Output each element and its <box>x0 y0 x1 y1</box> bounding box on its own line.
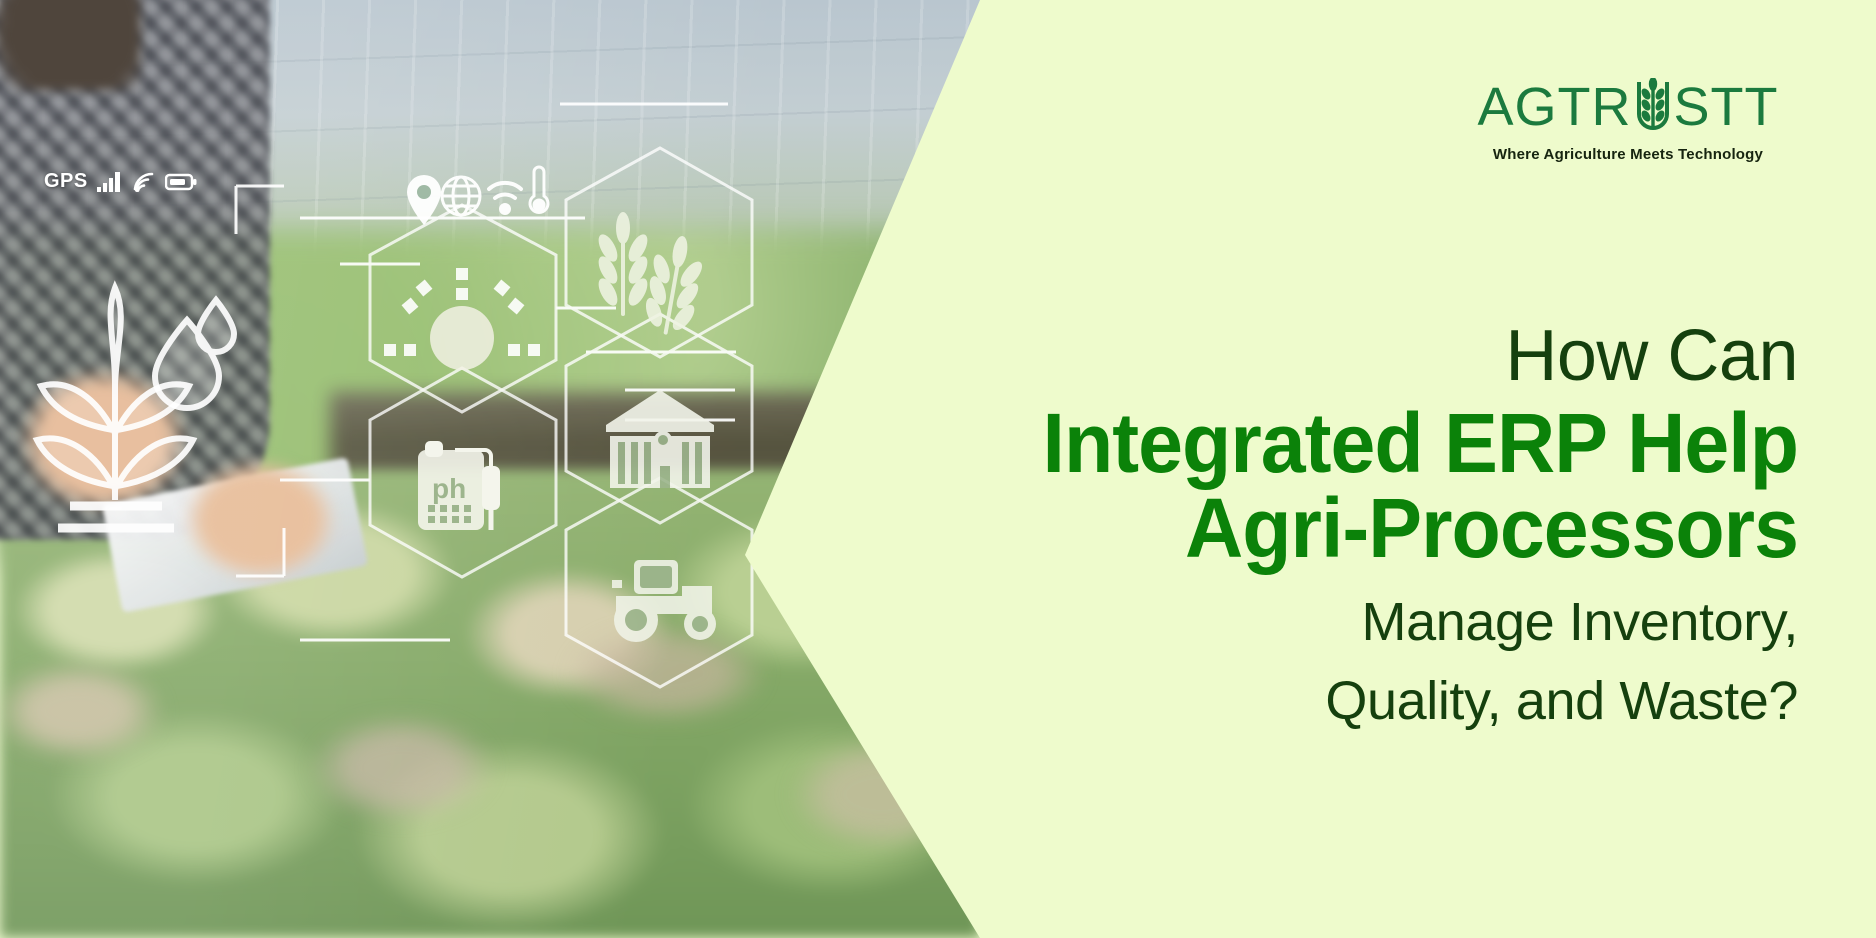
wifi-signal-icon <box>489 183 521 213</box>
gps-status-bar: GPS <box>44 170 197 193</box>
globe-icon <box>442 177 480 215</box>
signal-bars-icon <box>97 172 123 192</box>
plant-sprout-icon <box>37 288 193 528</box>
brand-name-part-2: STT <box>1674 80 1779 134</box>
brand-wordmark: AGTR STT <box>1458 78 1798 136</box>
hero-banner: ph <box>0 0 1876 938</box>
headline-line-2: Integrated ERP Help <box>828 399 1798 488</box>
sun-icon <box>384 268 540 370</box>
brand-logo[interactable]: AGTR STT Where Agr <box>1458 78 1798 163</box>
wheat-ear-icon <box>1633 78 1673 136</box>
ph-meter-label: ph <box>432 473 466 504</box>
brand-name-part-1: AGTR <box>1477 80 1631 134</box>
headline-line-1: How Can <box>788 320 1798 393</box>
water-drop-icon <box>155 300 234 408</box>
wifi-icon <box>132 172 156 192</box>
tractor-icon <box>612 560 716 642</box>
headline-block: How Can Integrated ERP Help Agri-Process… <box>788 320 1798 733</box>
wheat-ear-glyph <box>1633 78 1673 136</box>
headline-line-5: Quality, and Waste? <box>788 671 1798 733</box>
thermometer-icon <box>530 167 548 212</box>
bracket-bottom-left-icon <box>236 528 284 576</box>
battery-icon <box>165 173 197 191</box>
greenhouse-icon <box>606 390 714 488</box>
bracket-top-left-icon <box>236 186 284 234</box>
gps-label: GPS <box>44 170 88 193</box>
wheat-icon <box>595 212 711 339</box>
headline-line-3: Agri-Processors <box>828 484 1798 573</box>
headline-line-4: Manage Inventory, <box>788 592 1798 654</box>
brand-tagline: Where Agriculture Meets Technology <box>1458 146 1798 163</box>
